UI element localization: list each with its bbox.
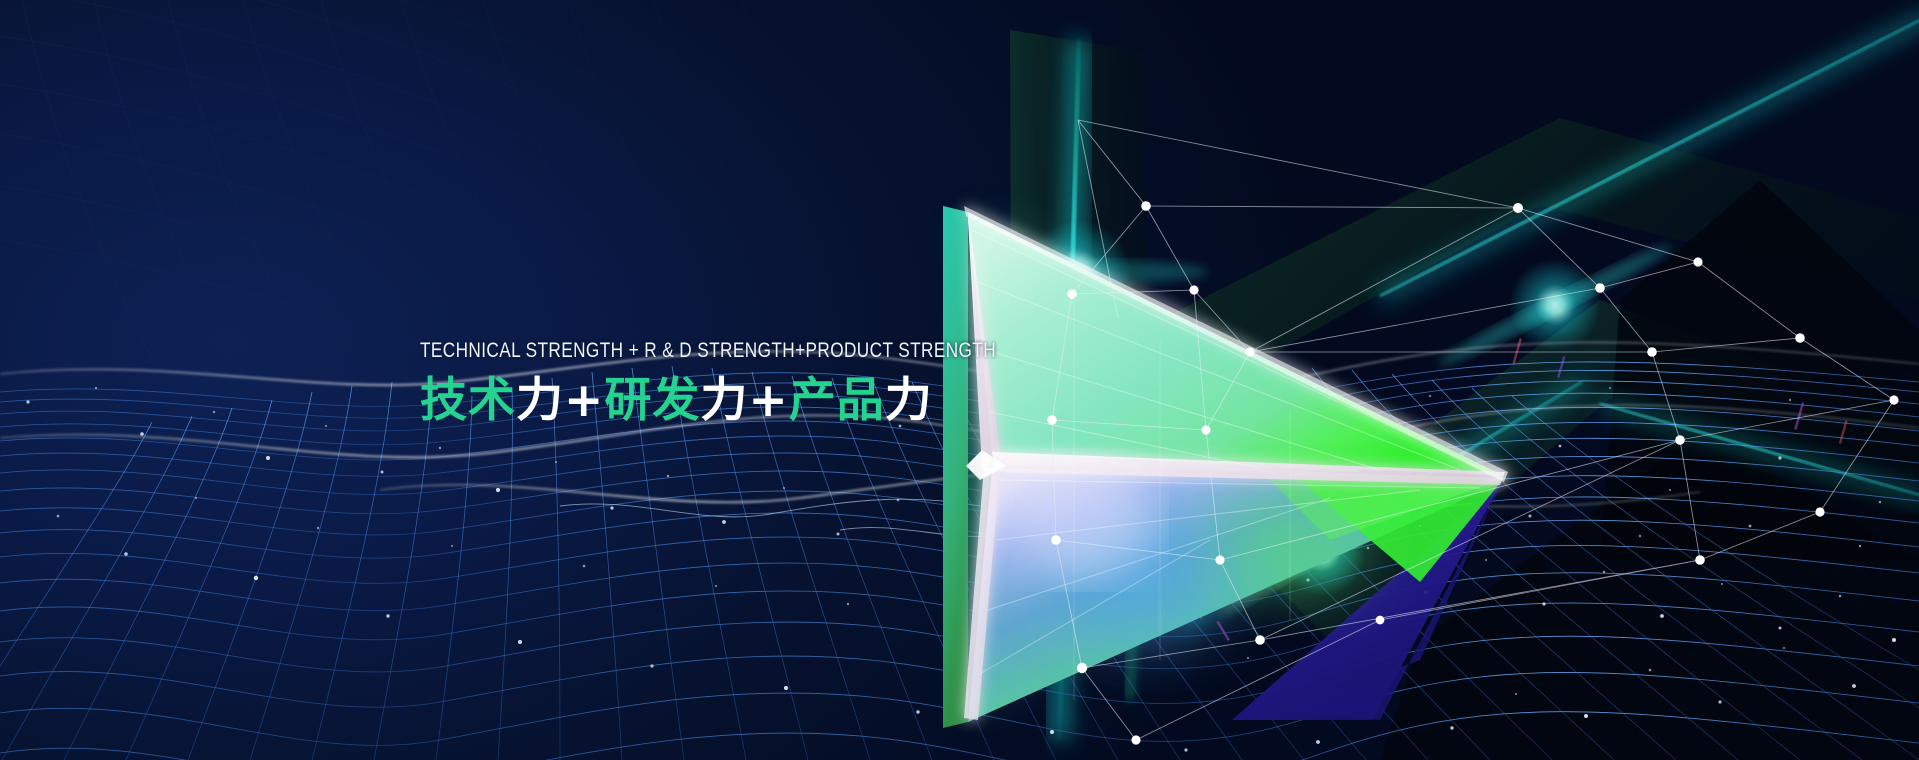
headline-separator: + <box>564 373 604 428</box>
headline-chinese: 技术力+研发力+产品力 <box>420 373 1040 428</box>
headline-segment: 力 <box>700 373 748 428</box>
headline-segment: 力 <box>885 373 933 428</box>
headline-english: TECHNICAL STRENGTH + R & D STRENGTH+PROD… <box>420 340 916 362</box>
headline-segment: 力 <box>516 373 564 428</box>
headline-block: TECHNICAL STRENGTH + R & D STRENGTH+PROD… <box>420 340 1040 428</box>
headline-segment: 研发 <box>604 373 700 428</box>
headline-segment: 技术 <box>420 373 516 428</box>
hero-banner: TECHNICAL STRENGTH + R & D STRENGTH+PROD… <box>0 0 1919 760</box>
headline-segment: 产品 <box>789 373 885 428</box>
headline-separator: + <box>748 373 788 428</box>
